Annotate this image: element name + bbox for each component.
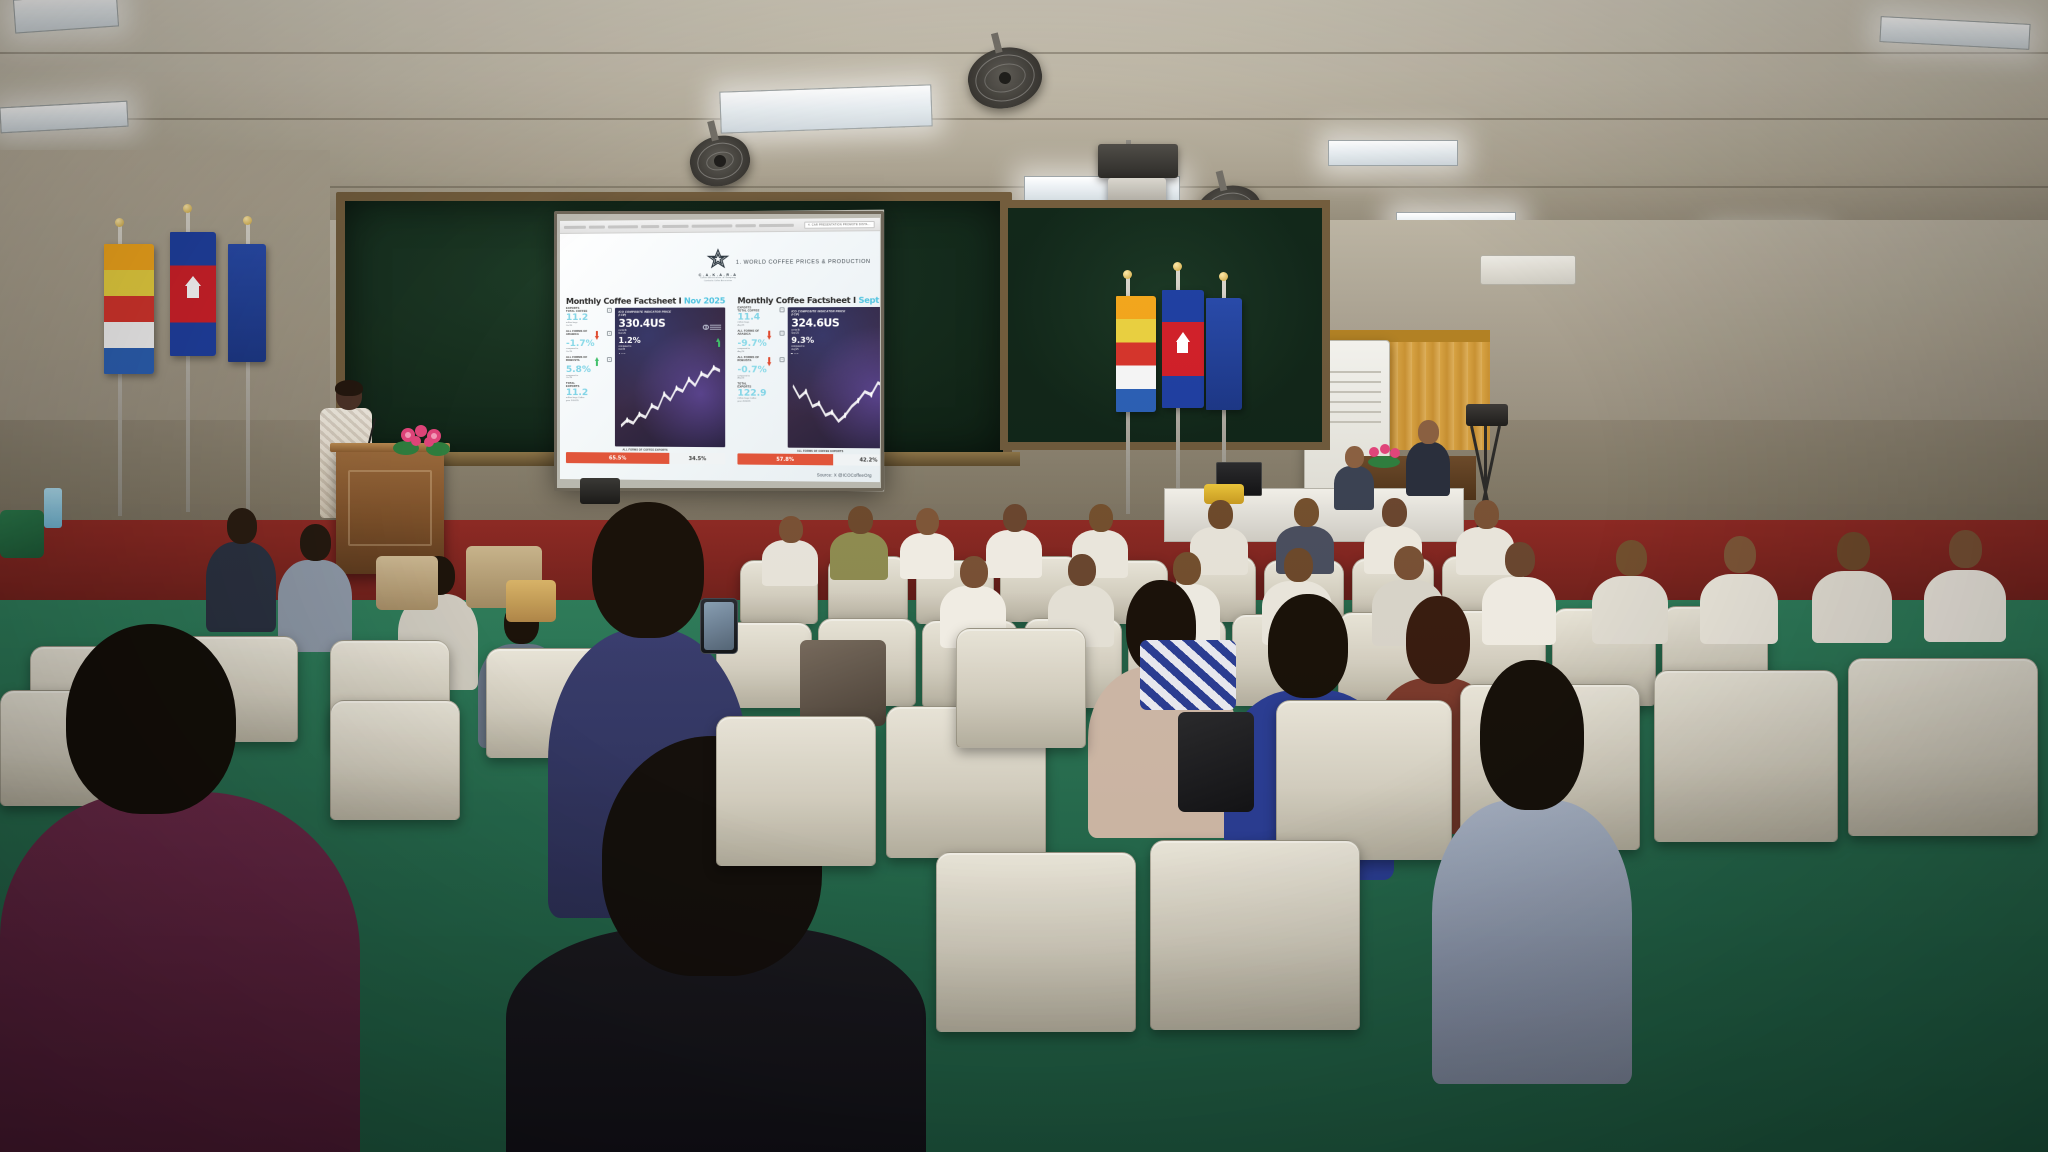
- stat-block-exports: EXPORTSTOTAL COFFEE + 11.4 million bags …: [737, 307, 784, 327]
- price-panel-subtitle: (I-CIP): [791, 313, 880, 316]
- bar-segment-arabica: 65.5%: [566, 452, 670, 464]
- stat-period: Aug'24: [737, 377, 784, 380]
- stat-period: Aug'24: [737, 351, 784, 354]
- stat-period: Oct'25: [566, 325, 612, 328]
- slide-header: C.A.K.A.R.A Coffee Association of Kampon…: [560, 234, 880, 289]
- price-panel: ICO COMPOSITE INDICATOR PRICE (I-CIP) 33…: [615, 308, 725, 447]
- legend-label: I-CIP: [794, 353, 799, 355]
- exports-split-bar: 57.8% 42.2%: [737, 453, 880, 466]
- stat-block-total: TOTALEXPORTS 11.2 million bags Coffee ye…: [566, 383, 612, 402]
- stats-column: EXPORTSTOTAL COFFEE + 11.4 million bags …: [737, 307, 784, 447]
- price-period: Sep'25: [791, 332, 839, 335]
- smartphone[interactable]: [700, 598, 738, 654]
- factsheet-title-main: Monthly Coffee Factsheet I: [737, 295, 855, 306]
- audience-member: [1700, 536, 1778, 642]
- seated-official: [1406, 420, 1450, 496]
- organization-flag: [228, 244, 266, 362]
- stat-chip-icon: +: [779, 357, 784, 362]
- legend-label: I-CIP: [621, 353, 626, 355]
- price-change-pct: 1.2%: [618, 337, 640, 345]
- backpack: [800, 640, 886, 726]
- stat-period: Oct'24: [566, 377, 612, 380]
- price-change-period: Aug'25: [791, 349, 814, 352]
- price-change-pct: 9.3%: [791, 337, 814, 345]
- price-period: Nov'25: [618, 333, 665, 336]
- stat-chip-icon: +: [607, 308, 612, 313]
- seat: [1654, 670, 1838, 842]
- bars-caption: ALL FORMS OF COFFEE EXPORTS: [737, 449, 880, 453]
- bars-caption: ALL FORMS OF COFFEE EXPORTS: [566, 448, 725, 452]
- stat-label: ALL FORMS OFARABICA: [566, 331, 587, 337]
- stat-period: year 2024/25: [737, 400, 784, 403]
- factsheet-row: Monthly Coffee Factsheet I Nov 2025 EXPO…: [566, 296, 874, 466]
- stats-column: EXPORTSTOTAL COFFEE + 11.2 million bags …: [566, 308, 612, 446]
- bar-segment-robusta: 34.5%: [670, 453, 725, 465]
- legend-dot-icon: [791, 353, 793, 355]
- arrow-down-icon: [595, 331, 600, 340]
- stat-block-exports: EXPORTSTOTAL COFFEE + 11.2 million bags …: [566, 308, 612, 327]
- exports-split-bar: 65.5% 34.5%: [566, 452, 725, 464]
- audience-member-foreground: [0, 624, 360, 1152]
- arrow-down-icon: [767, 357, 772, 366]
- cambodia-flag: [1162, 290, 1204, 408]
- buddhist-flag: [104, 244, 154, 374]
- factsheet-title-sept: Monthly Coffee Factsheet I Sept 2025: [737, 296, 880, 305]
- buddhist-flag: [1116, 296, 1156, 412]
- seat: [1150, 840, 1360, 1030]
- price-sparkline: [618, 356, 721, 444]
- factsheet-title-nov: Monthly Coffee Factsheet I Nov 2025: [566, 296, 725, 305]
- projection-screen: 4. CAR PRESENTATION PROMOTE DISTA... C.A…: [556, 210, 884, 492]
- table-flowers: [1362, 440, 1406, 470]
- audience-member: [206, 508, 276, 628]
- stat-value: 11.4: [737, 313, 784, 322]
- patterned-bag: [1140, 640, 1236, 710]
- stat-chip-icon: +: [607, 357, 612, 362]
- ico-badge: [703, 324, 721, 330]
- ceiling-light: [719, 84, 932, 133]
- ceiling-light: [1328, 140, 1458, 166]
- arrow-up-icon: [595, 357, 600, 366]
- globe-icon: [703, 324, 709, 330]
- stat-value: 122.9: [737, 389, 784, 398]
- seat: [1848, 658, 2038, 836]
- stat-block-total: TOTALEXPORTS 122.9 million bags Coffee y…: [737, 384, 784, 404]
- legend-dot-icon: [618, 353, 620, 355]
- organization-flag: [1206, 298, 1242, 410]
- ceiling-seam: [0, 118, 2048, 120]
- shoulder-bag: [0, 510, 44, 558]
- flower-arrangement: [392, 418, 454, 460]
- stat-value: 11.2: [566, 314, 612, 323]
- factsheet-body: EXPORTSTOTAL COFFEE + 11.2 million bags …: [566, 308, 725, 447]
- stat-chip-icon: +: [779, 331, 784, 336]
- powerpoint-file-tab-label: 4. CAR PRESENTATION PROMOTE DISTA...: [808, 223, 870, 227]
- badge-lines-icon: [710, 325, 721, 329]
- stat-period: Oct'24: [566, 351, 612, 354]
- price-legend: I-CIP: [791, 353, 880, 355]
- bar-segment-arabica: 57.8%: [737, 453, 833, 465]
- factsheet-title-month: Sept 2025: [858, 295, 880, 305]
- stat-chip-icon: +: [607, 331, 612, 336]
- stat-period: year 2024/25: [566, 400, 612, 403]
- arrow-up-icon: [716, 338, 721, 347]
- factsheet-body: EXPORTSTOTAL COFFEE + 11.4 million bags …: [737, 307, 880, 448]
- price-change-period: Oct'25: [618, 349, 640, 352]
- slide-source-note: Source: X @ICOCoffeeOrg: [817, 472, 872, 478]
- powerpoint-file-tab[interactable]: 4. CAR PRESENTATION PROMOTE DISTA...: [804, 221, 875, 229]
- stat-value: 5.8%: [566, 366, 612, 375]
- stat-label: ALL FORMS OFROBUSTA: [737, 357, 759, 363]
- cakara-logo: C.A.K.A.R.A Coffee Association of Kampon…: [699, 248, 738, 282]
- star-flower-icon: [705, 248, 731, 272]
- audience-member-foreground: [1432, 660, 1632, 1080]
- audience-member: [1924, 530, 2006, 640]
- bottled-water: [44, 488, 62, 528]
- factsheet-title-month: Nov 2025: [684, 295, 725, 305]
- seat: [1276, 700, 1452, 860]
- price-legend: I-CIP: [618, 353, 721, 355]
- slide-section-header: 1. WORLD COFFEE PRICES & PRODUCTION: [736, 259, 871, 266]
- audience-member: [762, 516, 818, 578]
- stat-chip-icon: +: [779, 307, 784, 312]
- audience-member: [1592, 540, 1668, 642]
- cambodia-flag: [170, 232, 216, 356]
- price-panel-subtitle: (I-CIP): [618, 314, 721, 317]
- price-panel: ICO COMPOSITE INDICATOR PRICE (I-CIP) 32…: [788, 307, 880, 448]
- handbag: [1178, 712, 1254, 812]
- seat: [936, 852, 1136, 1032]
- seat: [716, 716, 876, 866]
- audience-member: [1812, 532, 1892, 640]
- audience-member: [830, 506, 888, 576]
- stat-value: 11.2: [566, 389, 612, 398]
- camera-on-stand-left: [580, 478, 620, 504]
- ceiling-projector: [1098, 144, 1178, 178]
- logo-tagline-2: Cambodia Coffee Association: [699, 280, 738, 282]
- stat-label: ALL FORMS OFARABICA: [737, 331, 759, 337]
- stat-value: -0.7%: [737, 366, 784, 375]
- stat-label: ALL FORMS OFROBUSTA: [566, 357, 587, 363]
- stat-block-arabica: ALL FORMS OFARABICA + -9.7% compared to …: [737, 331, 784, 354]
- stat-block-arabica: ALL FORMS OFARABICA + -1.7% compared to …: [566, 331, 612, 354]
- rice-sack: [376, 556, 438, 610]
- factsheet-panel-nov: Monthly Coffee Factsheet I Nov 2025 EXPO…: [566, 296, 725, 464]
- logo-tagline: Coffee Association of Kampong: [699, 277, 738, 279]
- factsheet-title-main: Monthly Coffee Factsheet I: [566, 295, 681, 305]
- rice-sack: [506, 580, 556, 622]
- stat-block-robusta: ALL FORMS OFROBUSTA + 5.8% compared to O…: [566, 357, 612, 380]
- presentation-slide: 4. CAR PRESENTATION PROMOTE DISTA... C.A…: [560, 218, 880, 482]
- factsheet-panel-sept: Monthly Coffee Factsheet I Sept 2025 EXP…: [737, 296, 880, 466]
- stat-period: Aug'25: [737, 324, 784, 327]
- lecture-hall-scene: 4. CAR PRESENTATION PROMOTE DISTA... C.A…: [0, 0, 2048, 1152]
- ac-wall-unit: [1480, 255, 1576, 285]
- bar-segment-robusta: 42.2%: [833, 454, 880, 466]
- arrow-down-icon: [767, 331, 772, 340]
- price-sparkline: [791, 356, 880, 445]
- seat: [956, 628, 1086, 748]
- stat-block-robusta: ALL FORMS OFROBUSTA + -0.7% compared to …: [737, 357, 784, 380]
